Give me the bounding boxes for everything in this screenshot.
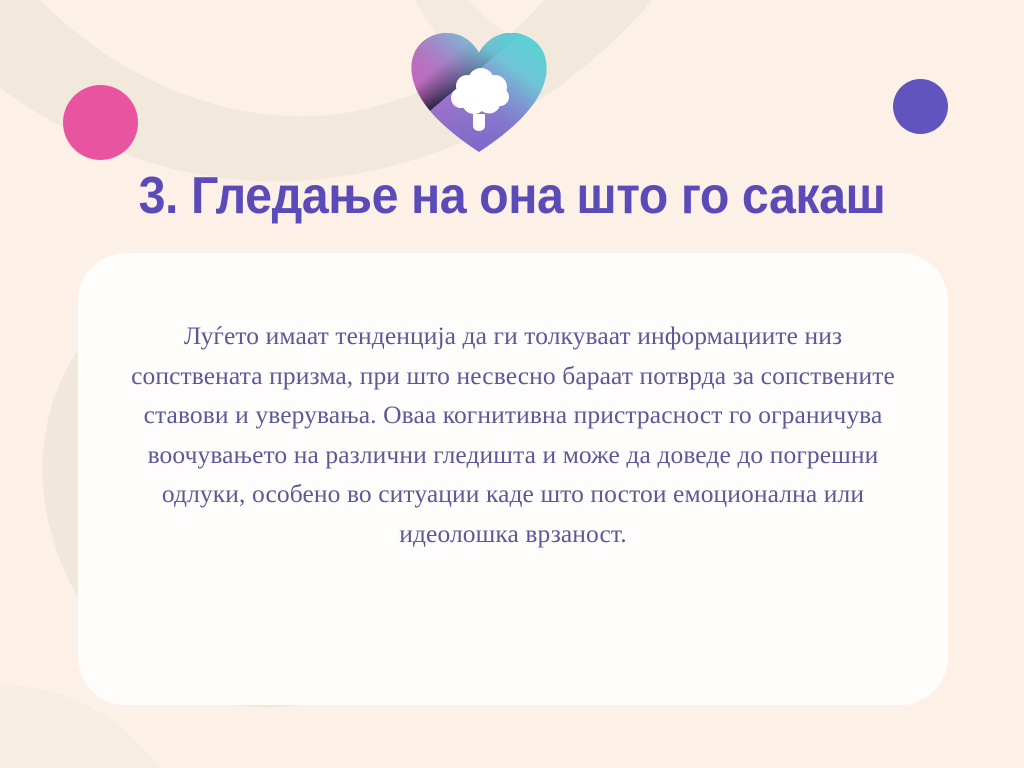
heart-with-brain-icon: [409, 28, 549, 156]
page-title: 3. Гледање на она што го сакаш: [36, 169, 988, 223]
purple-circle: [893, 79, 948, 134]
body-paragraph: Луѓето имаат тенденција да ги толкуваат …: [122, 316, 904, 553]
slide-canvas: 3. Гледање на она што го сакаш Луѓето им…: [0, 0, 1024, 768]
pink-circle: [63, 85, 138, 160]
content-card: Луѓето имаат тенденција да ги толкуваат …: [78, 253, 948, 705]
